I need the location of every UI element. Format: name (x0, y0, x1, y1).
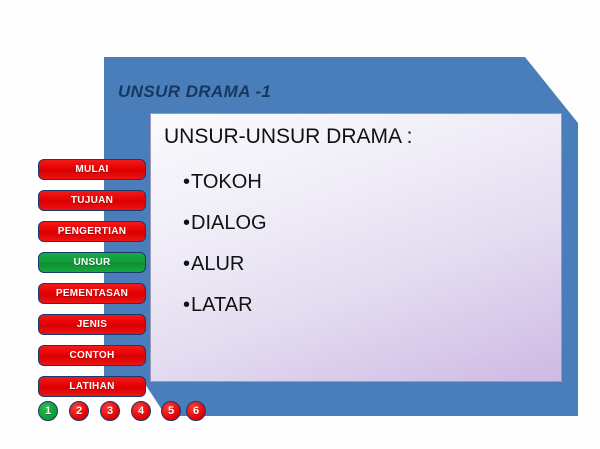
pager-button-6[interactable]: 6 (186, 401, 206, 421)
bullet-dot-icon: • (183, 172, 190, 192)
bullet-label: LATAR (191, 294, 253, 317)
sidebar-item-unsur[interactable]: UNSUR (38, 252, 146, 273)
bullet-dot-icon: • (183, 254, 190, 274)
bullet-item-latar: • LATAR (183, 294, 253, 317)
sidebar-item-latihan[interactable]: LATIHAN (38, 376, 146, 397)
sidebar-item-jenis[interactable]: JENIS (38, 314, 146, 335)
pager-button-2[interactable]: 2 (69, 401, 89, 421)
bullet-item-alur: • ALUR (183, 253, 244, 276)
presentation-slide: UNSUR DRAMA -1 UNSUR-UNSUR DRAMA : • TOK… (0, 0, 600, 449)
bullet-label: DIALOG (191, 212, 267, 235)
bullet-label: TOKOH (191, 171, 262, 194)
sidebar-item-mulai[interactable]: MULAI (38, 159, 146, 180)
pager-button-3[interactable]: 3 (100, 401, 120, 421)
bullet-dot-icon: • (183, 295, 190, 315)
pager-button-5[interactable]: 5 (161, 401, 181, 421)
content-heading: UNSUR-UNSUR DRAMA : (164, 125, 413, 149)
bullet-label: ALUR (191, 253, 244, 276)
sidebar-item-pengertian[interactable]: PENGERTIAN (38, 221, 146, 242)
content-box: UNSUR-UNSUR DRAMA : • TOKOH • DIALOG • A… (150, 113, 562, 382)
pager-button-4[interactable]: 4 (131, 401, 151, 421)
pager-button-1[interactable]: 1 (38, 401, 58, 421)
bullet-item-dialog: • DIALOG (183, 212, 267, 235)
bullet-dot-icon: • (183, 213, 190, 233)
sidebar-item-contoh[interactable]: CONTOH (38, 345, 146, 366)
sidebar-item-pementasan[interactable]: PEMENTASAN (38, 283, 146, 304)
sidebar-item-tujuan[interactable]: TUJUAN (38, 190, 146, 211)
slide-title: UNSUR DRAMA -1 (118, 82, 271, 102)
bullet-item-tokoh: • TOKOH (183, 171, 262, 194)
